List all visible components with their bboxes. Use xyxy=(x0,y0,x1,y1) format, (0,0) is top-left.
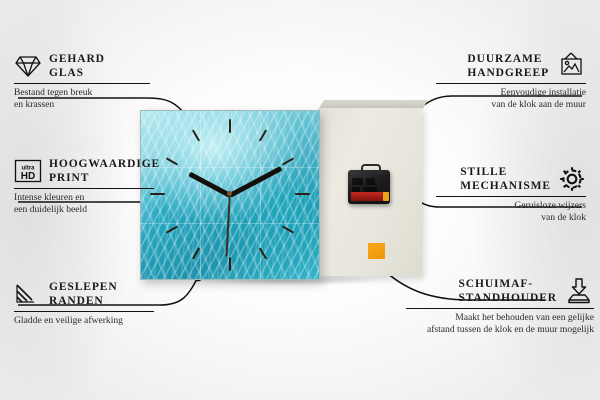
aa-battery xyxy=(351,192,387,201)
feature-title-line2: RANDEN xyxy=(49,294,118,308)
press-down-icon xyxy=(564,277,594,305)
feature-title-line1: STILLE xyxy=(460,165,551,179)
feature-desc-line1: Maakt het behouden van een gelijke xyxy=(406,312,594,324)
feature-duurzame-handgreep: DUURZAME HANDGREEP Eenvoudige installati… xyxy=(436,52,586,110)
diamond-icon xyxy=(14,53,42,79)
feature-desc-line1: Geruisloze wijzers xyxy=(436,200,586,212)
feature-heading: SCHUIMAF- STANDHOUDER xyxy=(406,277,594,305)
feature-divider xyxy=(14,83,150,84)
feature-heading: ultra HD HOOGWAARDIGE PRINT xyxy=(14,157,174,185)
clock-hand-cap xyxy=(227,191,232,196)
bevelled-edges-icon xyxy=(14,282,42,306)
feature-divider xyxy=(436,196,586,197)
feature-desc-line1: Eenvoudige installatie xyxy=(436,87,586,99)
feature-divider xyxy=(14,188,154,189)
tick-12 xyxy=(229,119,231,133)
feature-title-line1: SCHUIMAF- xyxy=(458,277,557,291)
feature-title-line1: DUURZAME xyxy=(467,52,549,66)
ultra-hd-big-label: HD xyxy=(21,171,35,182)
feature-divider xyxy=(406,308,594,309)
tick-4 xyxy=(282,225,294,233)
feature-desc-line1: Gladde en veilige afwerking xyxy=(14,315,174,327)
feature-title-line2: MECHANISME xyxy=(460,179,551,193)
ultra-hd-icon: ultra HD xyxy=(14,158,42,184)
feature-hoogwaardige-print: ultra HD HOOGWAARDIGE PRINT Intense kleu… xyxy=(14,157,174,215)
infographic-canvas: GEHARD GLAS Bestand tegen breuk en krass… xyxy=(0,0,600,400)
feature-desc-line2: van de klok aan de muur xyxy=(436,99,586,111)
feature-schuimaf-standhouder: SCHUIMAF- STANDHOUDER Maakt het behouden… xyxy=(406,277,594,335)
clock-minute-hand xyxy=(229,166,283,198)
clock-movement xyxy=(348,170,390,204)
battery-positive-terminal xyxy=(383,192,389,201)
feature-title-line2: STANDHOUDER xyxy=(458,291,557,305)
feature-title-line2: GLAS xyxy=(49,66,105,80)
tick-6 xyxy=(229,257,231,271)
feature-title-line2: HANDGREEP xyxy=(467,66,549,80)
feature-desc-line2: en krassen xyxy=(14,99,164,111)
feature-title-line1: GESLEPEN xyxy=(49,280,118,294)
feature-heading: GESLEPEN RANDEN xyxy=(14,280,174,308)
tick-11 xyxy=(192,129,200,141)
feature-stille-mechanisme: STILLE MECHANISME Geruisloze wijzers van… xyxy=(436,165,586,223)
clock-second-hand xyxy=(226,195,231,257)
feature-title-line1: HOOGWAARDIGE xyxy=(49,157,160,171)
feature-divider xyxy=(436,83,586,84)
feature-desc-line2: van de klok xyxy=(436,212,586,224)
framed-picture-icon xyxy=(556,52,586,80)
feature-divider xyxy=(14,311,154,312)
tick-2 xyxy=(282,157,294,165)
feature-heading: DUURZAME HANDGREEP xyxy=(436,52,586,80)
foam-spacer xyxy=(368,243,385,259)
feature-geslepen-randen: GESLEPEN RANDEN Gladde en veilige afwerk… xyxy=(14,280,174,327)
gear-icon xyxy=(558,165,586,193)
feature-heading: STILLE MECHANISME xyxy=(436,165,586,193)
feature-desc-line1: Intense kleuren en xyxy=(14,192,174,204)
feature-desc-line2: afstand tussen de klok en de muur mogeli… xyxy=(406,324,594,336)
feature-desc-line1: Bestand tegen breuk xyxy=(14,87,164,99)
feature-gehard-glas: GEHARD GLAS Bestand tegen breuk en krass… xyxy=(14,52,164,110)
clock-hour-hand xyxy=(188,172,231,198)
feature-title-line1: GEHARD xyxy=(49,52,105,66)
tick-7 xyxy=(192,247,200,259)
feature-desc-line2: een duidelijk beeld xyxy=(14,204,174,216)
tick-8 xyxy=(166,225,178,233)
feature-title-line2: PRINT xyxy=(49,171,160,185)
clock-hanger-icon xyxy=(361,164,381,174)
tick-3 xyxy=(295,193,310,195)
feature-heading: GEHARD GLAS xyxy=(14,52,164,80)
